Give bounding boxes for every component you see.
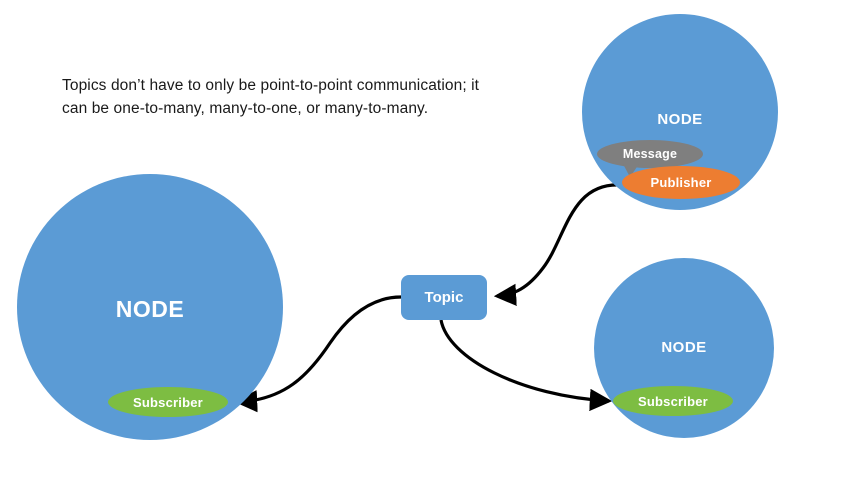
message-label: Message [623, 147, 677, 161]
message-bubble[interactable]: Message [597, 140, 703, 168]
diagram-canvas: Topics don’t have to only be point-to-po… [0, 0, 854, 480]
subscriber-right-label: Subscriber [638, 394, 708, 409]
caption-text: Topics don’t have to only be point-to-po… [62, 74, 482, 121]
publisher[interactable]: Publisher [622, 166, 740, 199]
edge-publisher-to-topic [497, 185, 621, 296]
topic-box[interactable]: Topic [401, 275, 487, 320]
subscriber-right[interactable]: Subscriber [613, 386, 733, 416]
node-bottom-right[interactable]: NODE Subscriber [594, 258, 774, 438]
edge-topic-to-subscriber-right [441, 320, 609, 401]
node-top-right-label: NODE [582, 111, 778, 128]
node-left-label: NODE [17, 296, 283, 323]
subscriber-left[interactable]: Subscriber [108, 387, 228, 417]
topic-label: Topic [425, 289, 464, 306]
node-bottom-right-label: NODE [594, 339, 774, 356]
subscriber-left-label: Subscriber [133, 395, 203, 410]
node-top-right[interactable]: NODE Message Publisher [582, 14, 778, 210]
node-left[interactable]: NODE Subscriber [17, 174, 283, 440]
publisher-label: Publisher [650, 175, 711, 190]
